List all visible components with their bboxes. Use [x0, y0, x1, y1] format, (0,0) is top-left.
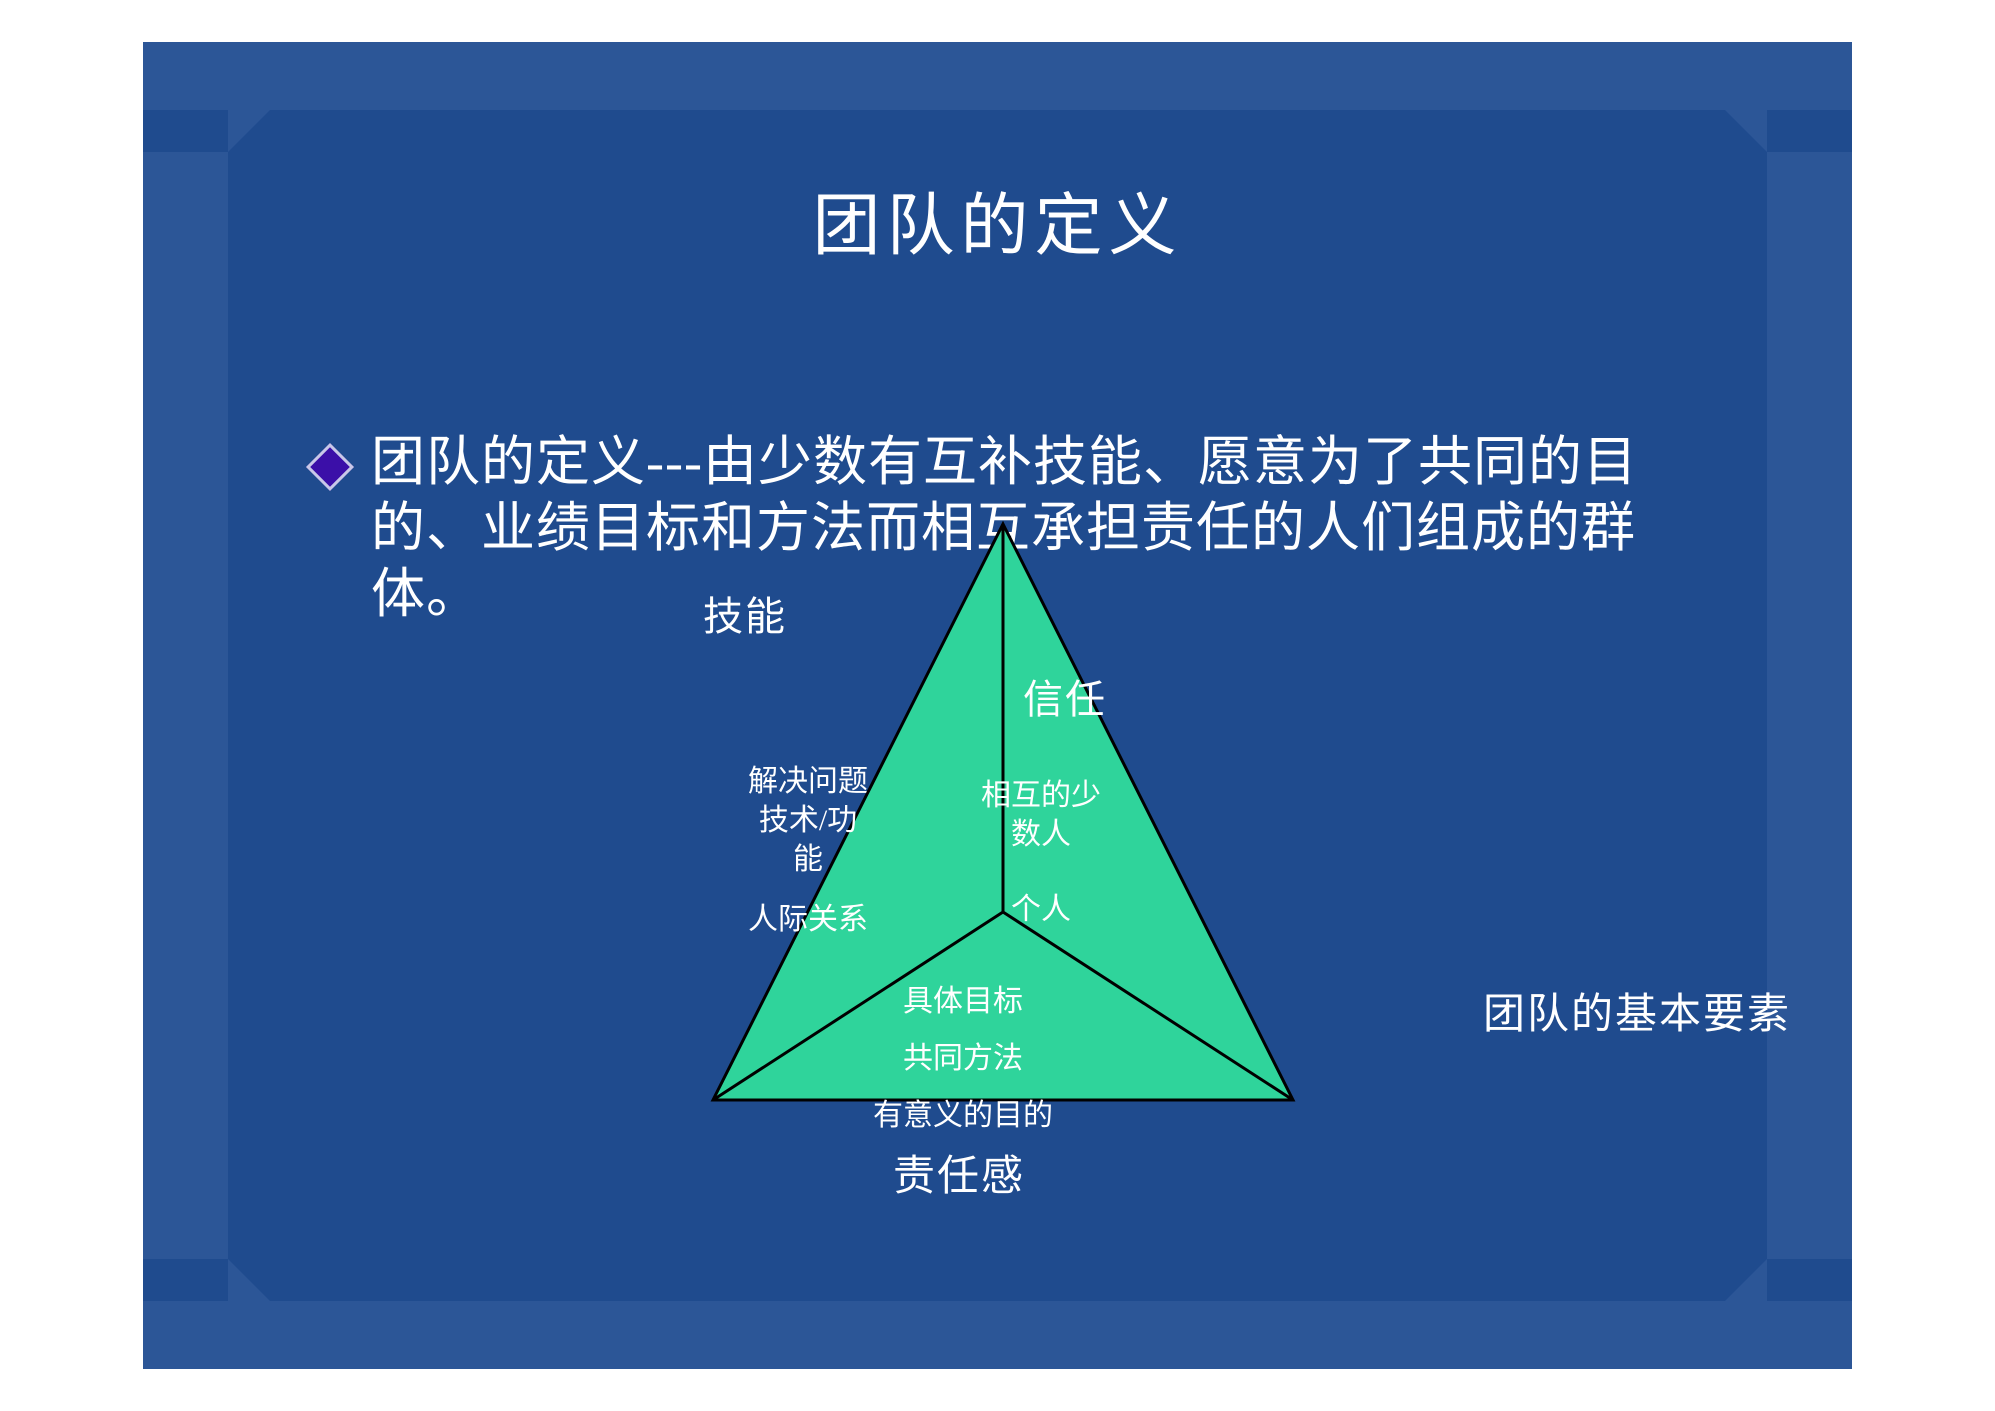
- label-trust: 信任: [1023, 667, 1107, 725]
- skills-group-a: 解决问题 技术/功 能: [703, 762, 913, 879]
- acc-line-3: 有意义的目的: [803, 1096, 1123, 1135]
- accountability-group: 具体目标 共同方法 有意义的目的: [803, 982, 1123, 1135]
- bevel-bottom-left: [228, 1259, 270, 1301]
- diamond-bullet-icon: [306, 443, 354, 491]
- skills-line-1: 解决问题: [703, 762, 913, 801]
- page-title: 团队的定义: [143, 192, 1852, 260]
- skills-line-3: 能: [703, 840, 913, 879]
- trust-group-a: 相互的少 数人: [941, 776, 1141, 854]
- bevel-top-left: [228, 110, 270, 152]
- bevel-bottom-right: [1725, 1259, 1767, 1301]
- trust-group-b: 个人: [941, 890, 1141, 929]
- label-skills: 技能: [703, 584, 787, 642]
- acc-line-2: 共同方法: [803, 1039, 1123, 1078]
- label-accountability: 责任感: [893, 1142, 1025, 1203]
- acc-line-1: 具体目标: [803, 982, 1123, 1021]
- team-triangle-diagram: 技能 信任 责任感 解决问题 技术/功 能 人际关系 相互的少 数人 个人 具体…: [573, 512, 1433, 1212]
- skills-line-2: 技术/功: [703, 801, 913, 840]
- trust-line-1: 相互的少: [941, 776, 1141, 815]
- trust-line-3: 个人: [941, 890, 1141, 929]
- trust-line-2: 数人: [941, 815, 1141, 854]
- slide-canvas: 团队的定义 团队的定义---由少数有互补技能、愿意为了共同的目的、业绩目标和方法…: [143, 42, 1852, 1369]
- skills-group-b: 人际关系: [703, 900, 913, 939]
- label-team-essentials: 团队的基本要素: [1483, 980, 1791, 1041]
- bevel-top-right: [1725, 110, 1767, 152]
- skills-line-4: 人际关系: [703, 900, 913, 939]
